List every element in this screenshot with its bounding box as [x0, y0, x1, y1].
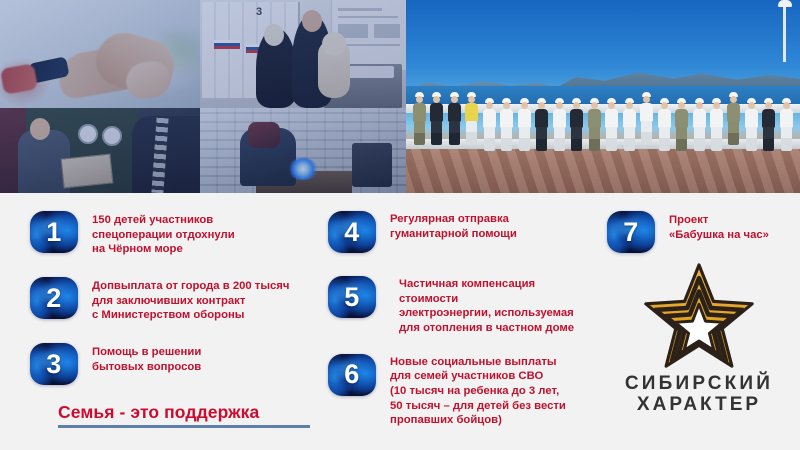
child-torso: [658, 109, 671, 128]
badge-number-label: 7: [607, 211, 655, 253]
child-head: [451, 96, 458, 103]
logo-line-1: СИБИРСКИЙ: [604, 373, 794, 394]
list-item-text: Регулярная отправка гуманитарной помощи: [390, 211, 517, 241]
badge-number-label: 2: [30, 277, 78, 319]
child-torso: [623, 109, 636, 128]
aid-package: [61, 153, 114, 188]
child-legs: [694, 127, 705, 151]
booth-number: 3: [256, 6, 262, 18]
child-torso: [483, 109, 496, 128]
list-item-6[interactable]: 6 Новые социальные выплаты для семей уча…: [328, 354, 578, 428]
child-head: [661, 102, 668, 109]
items-column-2: 4 Регулярная отправка гуманитарной помощ…: [328, 211, 578, 443]
child-head: [748, 102, 755, 109]
children-group: [412, 86, 794, 154]
welding-spark: [288, 158, 318, 180]
items-column-1: 1 150 детей участников спецоперации отдо…: [30, 211, 300, 400]
child-head: [521, 102, 528, 109]
number-badge: 7: [607, 211, 655, 253]
child-torso: [640, 103, 653, 122]
sleeve-cuff: [0, 63, 38, 95]
child-torso: [535, 109, 548, 128]
child-figure: [464, 92, 479, 154]
badge-number-label: 3: [30, 343, 78, 385]
child-legs: [728, 121, 739, 145]
panel-line: [338, 8, 382, 11]
list-item-text: 150 детей участников спецоперации отдохн…: [92, 211, 235, 257]
person-head: [302, 10, 322, 32]
star-icon: [640, 261, 758, 373]
child-figure: [517, 98, 532, 154]
list-item-3[interactable]: 3 Помощь в решении бытовых вопросов: [30, 343, 300, 385]
child-legs: [414, 121, 425, 145]
emblem-icon: [78, 124, 98, 144]
person-head: [30, 118, 50, 140]
number-badge: 5: [328, 276, 376, 318]
child-head: [468, 96, 475, 103]
seaside-children-group-photo: [406, 0, 800, 193]
child-head: [322, 32, 346, 56]
child-torso: [553, 109, 566, 128]
child-torso: [448, 103, 461, 122]
child-figure: [569, 98, 584, 154]
child-torso: [588, 109, 601, 128]
emblem-icon: [102, 126, 122, 146]
lamp-head: [778, 0, 792, 7]
list-item-text: Новые социальные выплаты для семей участ…: [390, 354, 566, 428]
child-figure: [587, 98, 602, 154]
slide-root: 3: [0, 0, 800, 450]
badge-number-label: 1: [30, 211, 78, 253]
child-legs: [624, 127, 635, 151]
child-head: [626, 102, 633, 109]
tagline-text: Семья - это поддержка: [58, 403, 314, 422]
child-figure: [604, 98, 619, 154]
child-legs: [711, 127, 722, 151]
child-legs: [449, 121, 460, 145]
child-figure: [657, 98, 672, 154]
number-badge: 1: [30, 211, 78, 253]
child-head: [503, 102, 510, 109]
photo-collage: 3: [0, 0, 800, 193]
hands-care-photo: [0, 0, 200, 108]
child-legs: [659, 127, 670, 151]
child-figure: [726, 92, 741, 154]
badge-number-label: 5: [328, 276, 376, 318]
child-figure: [692, 98, 707, 154]
panel-line: [338, 16, 398, 18]
child-legs: [589, 127, 600, 151]
child-torso: [500, 109, 513, 128]
child-torso: [675, 109, 688, 128]
child-torso: [413, 103, 426, 122]
child-legs: [606, 127, 617, 151]
child-figure: [761, 98, 776, 154]
list-item-7[interactable]: 7 Проект «Бабушка на час»: [607, 211, 787, 253]
equipment-crate: [352, 143, 392, 187]
child-legs: [466, 121, 477, 145]
child-head: [433, 96, 440, 103]
child-head: [538, 102, 545, 109]
child-torso: [780, 109, 793, 128]
child-torso: [745, 109, 758, 128]
child-figure: [779, 98, 794, 154]
list-item-text: Проект «Бабушка на час»: [669, 211, 769, 242]
tagline-block: Семья - это поддержка: [58, 403, 314, 428]
panel-line: [374, 24, 400, 38]
child-figure: [499, 98, 514, 154]
list-item-text: Частичная компенсация стоимости электроэ…: [390, 276, 578, 336]
flag-icon: [214, 40, 240, 49]
child-head: [713, 102, 720, 109]
child-legs: [763, 127, 774, 151]
child-figure: [552, 98, 567, 154]
child-legs: [554, 127, 565, 151]
child-head: [591, 102, 598, 109]
child-figure: [744, 98, 759, 154]
child-torso: [518, 109, 531, 128]
number-badge: 2: [30, 277, 78, 319]
badge-number-label: 6: [328, 354, 376, 396]
child-head: [696, 102, 703, 109]
child-torso: [430, 103, 443, 122]
child-figure: [622, 98, 637, 154]
child-figure: [534, 98, 549, 154]
child-figure: [447, 92, 462, 154]
number-badge: 4: [328, 211, 376, 253]
child-legs: [676, 127, 687, 151]
collage-grid-left: 3: [0, 0, 406, 193]
child-figure: [482, 98, 497, 154]
child-head: [608, 102, 615, 109]
child-torso: [570, 109, 583, 128]
child-legs: [571, 127, 582, 151]
child-legs: [519, 127, 530, 151]
child-head: [643, 96, 650, 103]
promenade-pavement: [406, 149, 800, 193]
list-item-4[interactable]: 4 Регулярная отправка гуманитарной помощ…: [328, 211, 578, 253]
child-torso: [693, 109, 706, 128]
child-torso: [605, 109, 618, 128]
welding-workshop-photo: [200, 108, 406, 193]
child-figure: [412, 92, 427, 154]
child-legs: [746, 127, 757, 151]
child-legs: [431, 121, 442, 145]
list-item-1[interactable]: 1 150 детей участников спецоперации отдо…: [30, 211, 300, 257]
child-head: [486, 102, 493, 109]
tagline-underline: [58, 425, 310, 428]
child-legs: [781, 127, 792, 151]
child-figure: [429, 92, 444, 154]
child-figure: [674, 98, 689, 154]
badge-number-label: 4: [328, 211, 376, 253]
child-figure: [639, 92, 654, 154]
logo-line-2: ХАРАКТЕР: [604, 394, 794, 415]
child-figure: [709, 98, 724, 154]
child-head: [783, 102, 790, 109]
child-legs: [641, 121, 652, 145]
child-head: [765, 102, 772, 109]
child-legs: [484, 127, 495, 151]
lamp-post: [783, 2, 786, 62]
voting-family-photo: 3: [200, 0, 406, 108]
child-legs: [501, 127, 512, 151]
aid-handover-photo: [0, 108, 200, 193]
items-column-3: 7 Проект «Бабушка на час»: [607, 211, 787, 268]
child-head: [556, 102, 563, 109]
brand-logo: СИБИРСКИЙ ХАРАКТЕР: [604, 261, 794, 416]
child-head: [573, 102, 580, 109]
number-badge: 6: [328, 354, 376, 396]
number-badge: 3: [30, 343, 78, 385]
child-torso: [727, 103, 740, 122]
child-head: [678, 102, 685, 109]
child-head: [730, 96, 737, 103]
content-area: 1 150 детей участников спецоперации отдо…: [0, 193, 800, 450]
child-torso: [465, 103, 478, 122]
child-legs: [536, 127, 547, 151]
child-head: [416, 96, 423, 103]
child-torso: [762, 109, 775, 128]
list-item-text: Помощь в решении бытовых вопросов: [92, 343, 201, 374]
welding-mask: [248, 122, 280, 148]
list-item-5[interactable]: 5 Частичная компенсация стоимости электр…: [328, 276, 578, 336]
list-item-2[interactable]: 2 Допвыплата от города в 200 тысяч для з…: [30, 277, 300, 323]
child-torso: [710, 109, 723, 128]
list-item-text: Допвыплата от города в 200 тысяч для зак…: [92, 277, 289, 323]
person-head: [264, 24, 284, 46]
